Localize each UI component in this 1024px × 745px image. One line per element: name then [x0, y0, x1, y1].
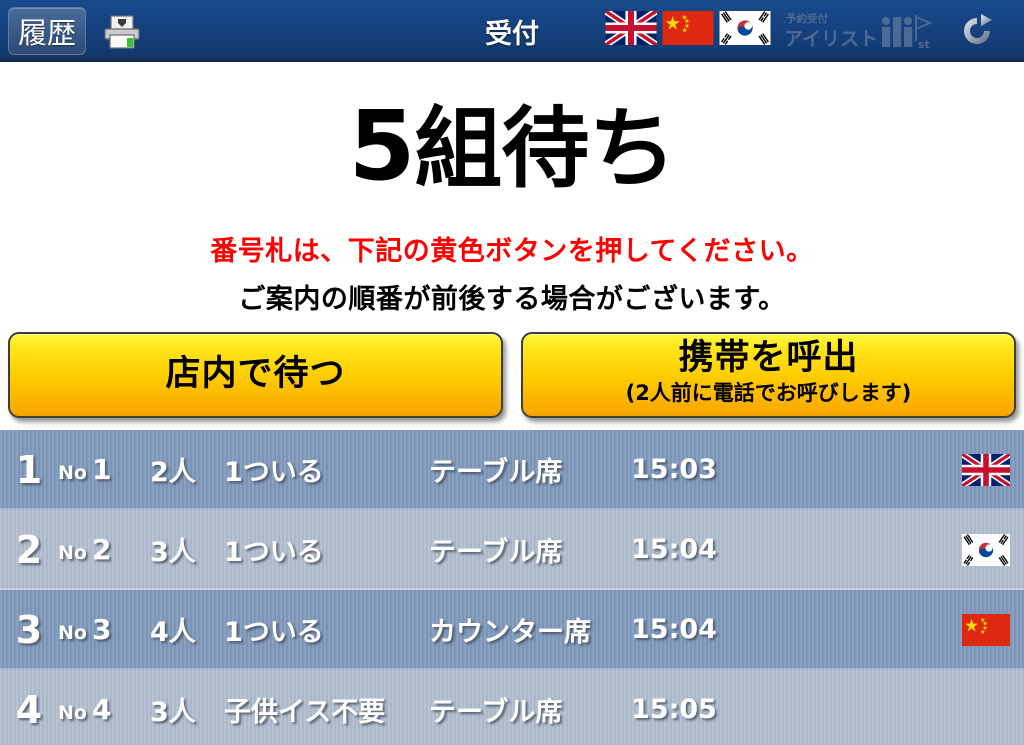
- row-no-label: No: [58, 622, 87, 644]
- row-party-size: 3人: [150, 690, 224, 729]
- row-option: 1ついる: [224, 530, 429, 569]
- row-sequence: 2: [0, 528, 58, 572]
- china-flag[interactable]: [662, 11, 714, 45]
- row-ticket-number: No 4: [58, 693, 150, 726]
- row-sequence: 1: [0, 448, 58, 492]
- row-time: 15:03: [631, 454, 781, 485]
- table-row[interactable]: 1 No 1 2人 1ついる テーブル席 15:03: [0, 430, 1024, 510]
- row-party-size: 4人: [150, 610, 224, 649]
- row-no-label: No: [58, 542, 87, 564]
- row-party-size: 3人: [150, 530, 224, 569]
- history-button[interactable]: 履歴: [8, 7, 86, 55]
- wait-in-store-button[interactable]: 店内で待つ: [8, 332, 503, 418]
- row-seat-type: テーブル席: [429, 690, 631, 729]
- uk-flag[interactable]: [605, 11, 657, 45]
- row-option: 1ついる: [224, 610, 429, 649]
- row-ticket-number: No 2: [58, 533, 150, 566]
- wait-count: 5組待ち: [0, 96, 1024, 197]
- svg-text:予約受付: 予約受付: [786, 12, 828, 25]
- row-no-value: 1: [92, 453, 111, 486]
- row-language-flag: [781, 534, 1024, 566]
- row-ticket-number: No 3: [58, 613, 150, 646]
- row-option: 子供イス不要: [224, 690, 429, 729]
- call-mobile-button[interactable]: 携帯を呼出 (2人前に電話でお呼びします): [521, 332, 1016, 418]
- svg-text:アイリスト: アイリスト: [784, 28, 878, 50]
- row-language-flag: [781, 454, 1024, 486]
- call-mobile-sublabel: (2人前に電話でお呼びします): [626, 377, 912, 407]
- row-time: 15:04: [631, 614, 781, 645]
- row-party-size: 2人: [150, 450, 224, 489]
- row-seat-type: テーブル席: [429, 530, 631, 569]
- korea-flag-icon: [962, 534, 1010, 566]
- notice-primary: 番号札は、下記の黄色ボタンを押してください。: [0, 229, 1024, 268]
- language-flags: [605, 11, 771, 45]
- row-no-value: 4: [92, 693, 111, 726]
- row-seat-type: テーブル席: [429, 450, 631, 489]
- action-buttons: 店内で待つ 携帯を呼出 (2人前に電話でお呼びします): [0, 332, 1024, 418]
- row-option: 1ついる: [224, 450, 429, 489]
- wait-count-suffix: 組待ち: [414, 97, 675, 200]
- row-ticket-number: No 1: [58, 453, 150, 486]
- call-mobile-label: 携帯を呼出: [678, 340, 858, 378]
- korea-flag[interactable]: [719, 11, 771, 45]
- refresh-icon[interactable]: [957, 12, 997, 50]
- svg-text:st: st: [918, 38, 930, 51]
- waiting-list: 1 No 1 2人 1ついる テーブル席 15:03 2: [0, 430, 1024, 745]
- row-sequence: 3: [0, 608, 58, 652]
- row-time: 15:04: [631, 534, 781, 565]
- table-row[interactable]: 4 No 4 3人 子供イス不要 テーブル席 15:05: [0, 670, 1024, 745]
- table-row[interactable]: 2 No 2 3人 1ついる テーブル席 15:04: [0, 510, 1024, 590]
- row-seat-type: カウンター席: [429, 610, 631, 649]
- wait-count-number: 5: [349, 90, 415, 202]
- main-content: 5組待ち 番号札は、下記の黄色ボタンを押してください。 ご案内の順番が前後する場…: [0, 96, 1024, 745]
- row-no-label: No: [58, 702, 87, 724]
- ilist-logo: 予約受付 アイリスト st: [784, 9, 939, 53]
- page-title: 受付: [0, 0, 1024, 62]
- row-no-value: 2: [92, 533, 111, 566]
- notice-secondary: ご案内の順番が前後する場合がございます。: [0, 277, 1024, 316]
- row-language-flag: [781, 614, 1024, 646]
- printer-icon[interactable]: [103, 14, 141, 50]
- row-time: 15:05: [631, 694, 781, 725]
- app-header: 履歴 受付: [0, 0, 1024, 62]
- wait-in-store-label: 店内で待つ: [165, 356, 345, 394]
- china-flag-icon: [962, 614, 1010, 646]
- row-sequence: 4: [0, 688, 58, 732]
- row-no-label: No: [58, 462, 87, 484]
- table-row[interactable]: 3 No 3 4人 1ついる カウンター席 15:04: [0, 590, 1024, 670]
- row-no-value: 3: [92, 613, 111, 646]
- uk-flag-icon: [962, 454, 1010, 486]
